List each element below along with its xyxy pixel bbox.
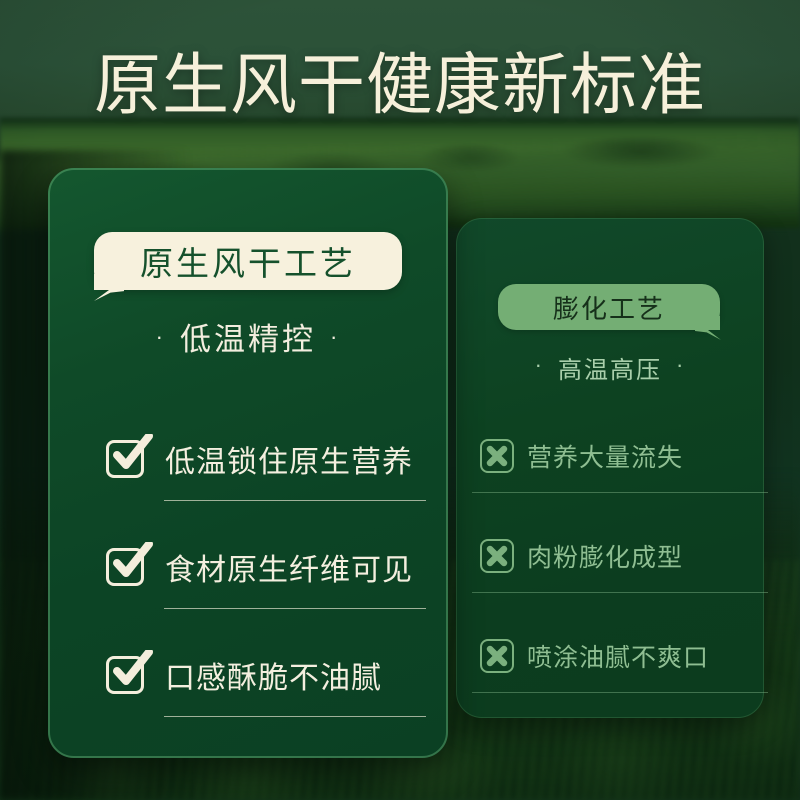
list-item-divider — [164, 500, 426, 501]
subtitle-right-text: 高温高压 — [558, 357, 662, 384]
feature-list-left: 低温锁住原生营养 食材原生纤维可见 — [106, 426, 396, 750]
comparison-card-left: 原生风干工艺 ·低温精控· 低温锁住原生营养 — [48, 168, 448, 758]
list-item: 肉粉膨化成型 — [480, 528, 750, 628]
list-item: 低温锁住原生营养 — [106, 426, 396, 534]
subtitle-left-dot-left: · — [156, 324, 166, 350]
subtitle-left: ·低温精控· — [48, 314, 448, 359]
list-item-divider — [472, 592, 768, 593]
list-item: 口感酥脆不油腻 — [106, 642, 396, 750]
list-item-label: 口感酥脆不油腻 — [165, 653, 382, 697]
subtitle-left-text: 低温精控 — [180, 322, 316, 357]
list-item-label: 低温锁住原生营养 — [165, 437, 413, 481]
badge-left-label: 原生风干工艺 — [140, 237, 356, 285]
list-item-label: 肉粉膨化成型 — [527, 538, 683, 574]
cross-icon — [480, 439, 514, 473]
badge-left: 原生风干工艺 — [94, 232, 402, 290]
list-item-label: 营养大量流失 — [527, 438, 683, 474]
page-title: 原生风干健康新标准 — [0, 44, 800, 128]
check-icon — [106, 546, 149, 589]
subtitle-right-dot-right: · — [676, 352, 685, 378]
badge-right-label: 膨化工艺 — [553, 289, 665, 326]
list-item-divider — [472, 492, 768, 493]
subtitle-right: ·高温高压· — [456, 350, 764, 385]
feature-list-right: 营养大量流失 肉粉膨化成型 — [480, 428, 750, 728]
check-icon — [106, 654, 149, 697]
comparison-card-right: 膨化工艺 ·高温高压· 营养大量流失 — [456, 218, 764, 718]
subtitle-left-dot-right: · — [330, 324, 340, 350]
list-item: 食材原生纤维可见 — [106, 534, 396, 642]
promo-banner: 原生风干健康新标准 膨化工艺 ·高温高压· 营养大量流失 — [0, 0, 800, 800]
cross-icon — [480, 539, 514, 573]
list-item: 喷涂油腻不爽口 — [480, 628, 750, 728]
list-item-label: 喷涂油腻不爽口 — [527, 638, 709, 674]
list-item-divider — [472, 692, 768, 693]
badge-right: 膨化工艺 — [498, 284, 720, 330]
subtitle-right-dot-left: · — [535, 352, 544, 378]
cross-icon — [480, 639, 514, 673]
list-item-divider — [164, 716, 426, 717]
list-item-divider — [164, 608, 426, 609]
list-item: 营养大量流失 — [480, 428, 750, 528]
list-item-label: 食材原生纤维可见 — [165, 545, 413, 589]
check-icon — [106, 438, 149, 481]
